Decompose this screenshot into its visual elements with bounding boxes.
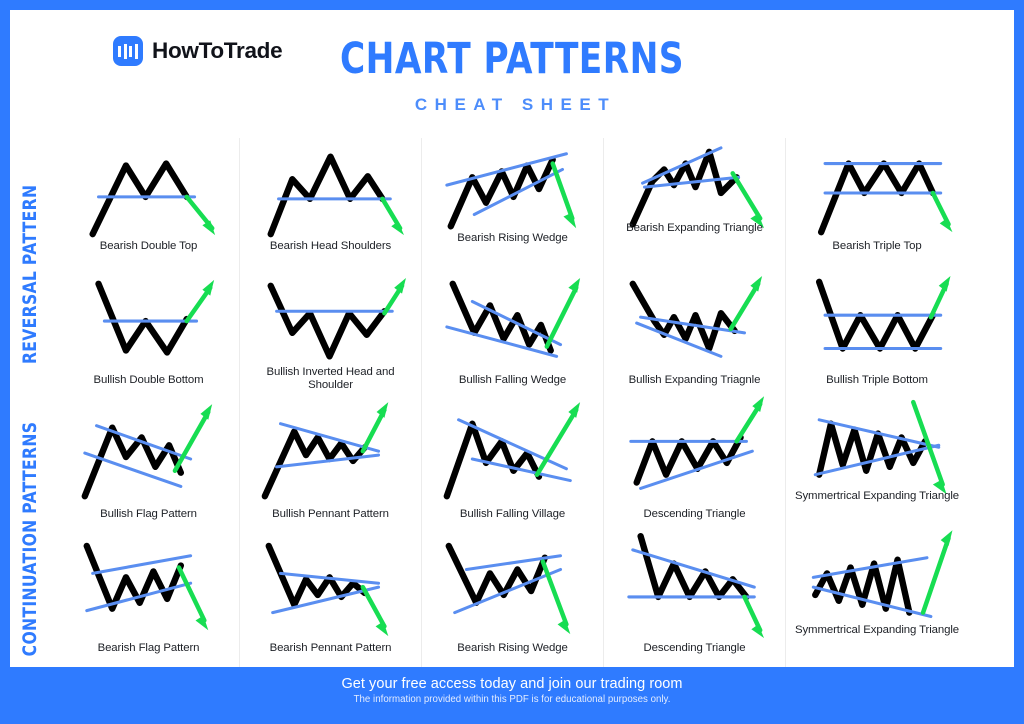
pattern-diagram-bullish-inverted-head-and-shoulder [245,276,416,374]
footer-banner[interactable]: Get your free access today and join our … [10,667,1014,714]
pattern-diagram-bearish-double-top [63,142,234,240]
pattern-diagram-bullish-falling-wedge [427,276,598,374]
section-label-reversal: REVERSAL PATTERN [10,140,50,408]
footer-disclaimer: The information provided within this PDF… [354,694,671,705]
pattern-label: Bullish Flag Pattern [100,508,197,521]
pattern-cell[interactable]: Bearish Flag Pattern [58,540,240,674]
section-label-continuation-text: CONTINUATION PATTERNS [19,422,41,657]
pattern-label: Bearish Rising Wedge [457,642,568,655]
pattern-label: Descending Triangle [644,642,746,655]
pattern-cell[interactable]: Bearish Triple Top [786,138,968,272]
pattern-diagram-bearish-pennant-pattern [245,544,416,642]
pattern-cell[interactable]: Descending Triangle [604,406,786,540]
pattern-cell[interactable]: Symmertrical Expanding Triangle [786,406,968,540]
sheet-body: HowToTrade CHART PATTERNS CHEAT SHEET RE… [10,10,1014,714]
pattern-diagram-bullish-falling-village [427,410,598,508]
pattern-label: Bullish Falling Wedge [459,374,566,387]
pattern-label: Bullish Pennant Pattern [272,508,389,521]
pattern-label: Bullish Falling Village [460,508,565,521]
cheat-sheet-page: HowToTrade CHART PATTERNS CHEAT SHEET RE… [0,0,1024,724]
pattern-cell[interactable]: Bearish Head Shoulders [240,138,422,272]
pattern-diagram-bullish-expanding-triangle [609,276,780,374]
pattern-diagram-bullish-pennant-pattern [245,410,416,508]
pattern-diagram-bearish-head-shoulders [245,142,416,240]
pattern-diagram-bearish-rising-wedge-continuation [427,544,598,642]
footer-headline: Get your free access today and join our … [341,676,682,692]
pattern-cell[interactable]: Bearish Rising Wedge [422,138,604,272]
pattern-cell[interactable]: Bullish Expanding Triagnle [604,272,786,406]
pattern-label: Symmertrical Expanding Triangle [795,624,959,637]
pattern-cell[interactable]: Bearish Double Top [58,138,240,272]
pattern-cell[interactable]: Bullish Falling Wedge [422,272,604,406]
title-block: CHART PATTERNS CHEAT SHEET [10,38,1014,115]
pattern-label: Bullish Triple Bottom [826,374,928,387]
pattern-cell[interactable]: Bullish Inverted Head and Shoulder [240,272,422,406]
pattern-cell[interactable]: Bearish Expanding Triangle [604,138,786,272]
pattern-label: Bearish Double Top [100,240,197,253]
pattern-label: Bearish Pennant Pattern [270,642,392,655]
page-subtitle: CHEAT SHEET [10,95,1014,115]
pattern-diagram-bullish-triple-bottom [791,276,963,374]
pattern-cell[interactable]: Descending Triangle [604,540,786,674]
section-label-continuation: CONTINUATION PATTERNS [10,410,50,668]
pattern-label: Bearish Expanding Triangle [626,222,763,235]
page-title: CHART PATTERNS [110,38,913,82]
pattern-label: Bullish Double Bottom [94,374,204,387]
pattern-label: Symmertrical Expanding Triangle [795,490,959,503]
pattern-cell[interactable]: Bullish Flag Pattern [58,406,240,540]
pattern-cell[interactable]: Bullish Triple Bottom [786,272,968,406]
pattern-diagram-descending-triangle-bearish [609,544,780,642]
pattern-label: Bullish Inverted Head and Shoulder [245,366,416,393]
pattern-cell[interactable]: Bullish Double Bottom [58,272,240,406]
pattern-label: Bearish Head Shoulders [270,240,391,253]
pattern-diagram-bullish-flag-pattern [63,410,234,508]
pattern-diagram-descending-triangle-bullish [609,410,780,508]
pattern-diagram-bearish-flag-pattern [63,544,234,642]
pattern-diagram-bullish-double-bottom [63,276,234,374]
header: HowToTrade CHART PATTERNS CHEAT SHEET [10,10,1014,130]
section-label-reversal-text: REVERSAL PATTERN [19,184,41,363]
pattern-cell[interactable]: Bearish Rising Wedge [422,540,604,674]
pattern-cell[interactable]: Bearish Pennant Pattern [240,540,422,674]
pattern-cell[interactable]: Symmertrical Expanding Triangle [786,540,968,674]
pattern-label: Bearish Flag Pattern [98,642,200,655]
pattern-label: Descending Triangle [644,508,746,521]
pattern-grid: Bearish Double Top Bearish Head Shoulder… [58,138,968,674]
pattern-label: Bearish Triple Top [832,240,921,253]
pattern-cell[interactable]: Bullish Falling Village [422,406,604,540]
pattern-label: Bullish Expanding Triagnle [629,374,761,387]
pattern-label: Bearish Rising Wedge [457,232,568,245]
pattern-cell[interactable]: Bullish Pennant Pattern [240,406,422,540]
pattern-diagram-bearish-rising-wedge [427,142,598,240]
pattern-diagram-bearish-triple-top [791,142,963,240]
